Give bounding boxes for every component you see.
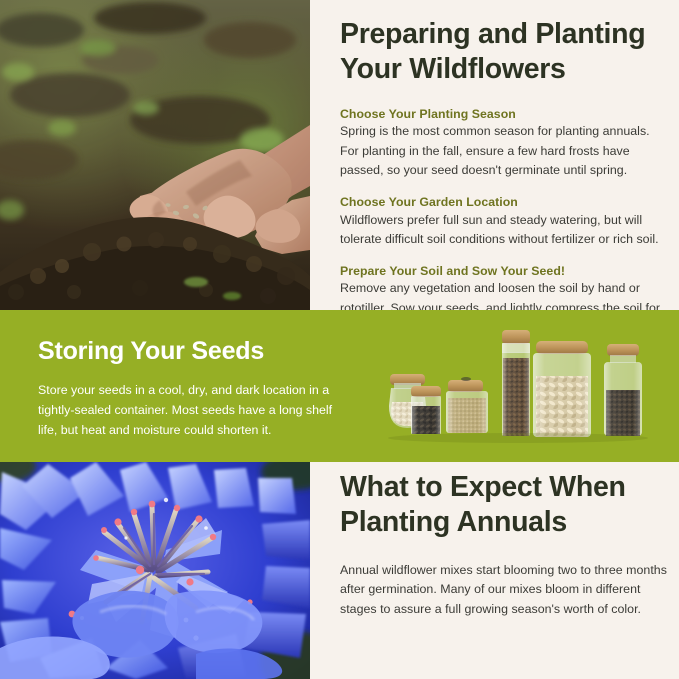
expect-body: Annual wildflower mixes start blooming t… <box>340 561 670 620</box>
seed-storage-jars-image <box>378 328 666 450</box>
storing-text-column: Storing Your Seeds Store your seeds in a… <box>38 336 338 441</box>
preparing-text-column: Preparing and Planting Your Wildflowers … <box>340 0 670 310</box>
section-storing-your-seeds: Storing Your Seeds Store your seeds in a… <box>0 310 679 462</box>
expect-heading: What to Expect When Planting Annuals <box>340 470 670 541</box>
storing-body: Store your seeds in a cool, dry, and dar… <box>38 381 338 441</box>
subheading-prepare-soil: Prepare Your Soil and Sow Your Seed! <box>340 263 670 280</box>
block-garden-location: Choose Your Garden Location Wildflowers … <box>340 194 670 250</box>
blue-cornflower-image <box>0 462 310 679</box>
body-planting-season: Spring is the most common season for pla… <box>340 122 670 181</box>
hand-sowing-seeds-image <box>0 0 310 310</box>
body-garden-location: Wildflowers prefer full sun and steady w… <box>340 211 670 250</box>
section-preparing-and-planting: Preparing and Planting Your Wildflowers … <box>0 0 679 310</box>
page-title: Preparing and Planting Your Wildflowers <box>340 0 670 88</box>
subheading-garden-location: Choose Your Garden Location <box>340 194 670 211</box>
section-what-to-expect: What to Expect When Planting Annuals Ann… <box>0 462 679 679</box>
block-planting-season: Choose Your Planting Season Spring is th… <box>340 106 670 181</box>
subheading-planting-season: Choose Your Planting Season <box>340 106 670 123</box>
storing-heading: Storing Your Seeds <box>38 336 338 366</box>
infographic-page: Preparing and Planting Your Wildflowers … <box>0 0 679 679</box>
expect-text-column: What to Expect When Planting Annuals Ann… <box>340 470 670 619</box>
